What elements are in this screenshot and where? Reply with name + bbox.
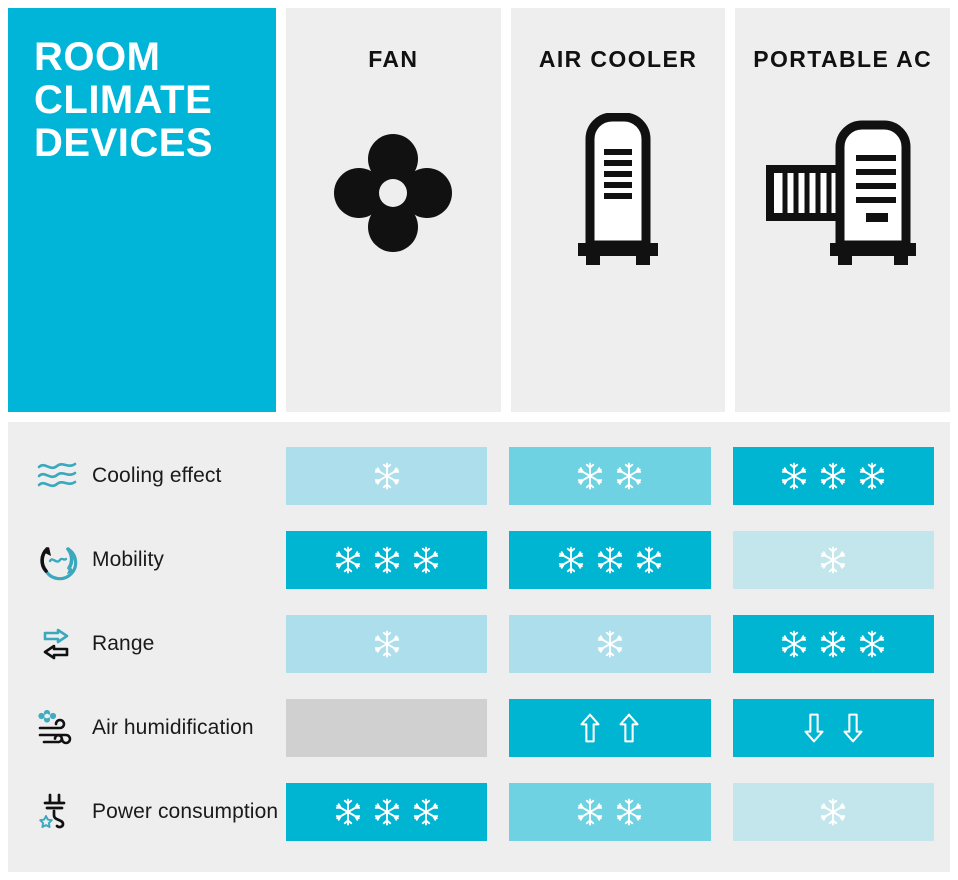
row-cells [286,615,942,673]
cell-air-humidification-fan[interactable] [286,699,487,757]
cell-air-humidification-air-cooler[interactable] [509,699,710,757]
header-row: ROOM CLIMATE DEVICES FAN [8,8,950,412]
power-plug-icon [34,789,80,835]
cell-cooling-effect-portable-ac[interactable] [733,447,934,505]
title-line-3: DEVICES [34,122,250,165]
cell-range-portable-ac[interactable] [733,615,934,673]
cell-power-consumption-air-cooler[interactable] [509,783,710,841]
row-label-power-consumption: Power consumption [8,789,286,835]
row-cells [286,531,942,589]
air-waves-icon [34,453,80,499]
device-title-portable-ac: PORTABLE AC [753,46,932,73]
device-card-portable-ac[interactable]: PORTABLE AC [735,8,950,412]
comparison-table: Cooling effect [8,422,950,872]
cell-power-consumption-fan[interactable] [286,783,487,841]
portable-air-conditioner-icon [735,73,950,412]
cell-air-humidification-portable-ac[interactable] [733,699,934,757]
row-cells [286,783,942,841]
row-label-air-humidification: Air humidification [8,705,286,751]
device-card-air-cooler[interactable]: AIR COOLER [511,8,726,412]
cell-mobility-fan[interactable] [286,531,487,589]
title-line-1: ROOM [34,36,250,79]
infographic-root: ROOM CLIMATE DEVICES FAN [0,0,958,880]
row-label-cooling-effect: Cooling effect [8,453,286,499]
table-row: Range [8,602,942,686]
device-card-fan[interactable]: FAN [286,8,501,412]
title-line-2: CLIMATE [34,79,250,122]
cell-power-consumption-portable-ac[interactable] [733,783,934,841]
device-title-fan: FAN [368,46,418,73]
cell-range-fan[interactable] [286,615,487,673]
table-row: Mobility [8,518,942,602]
rotation-circle-icon [34,537,80,583]
row-title: Cooling effect [92,464,221,488]
two-way-arrows-icon [34,621,80,667]
table-row: Cooling effect [8,434,942,518]
row-cells [286,699,942,757]
table-row: Air humidification [8,686,942,770]
cell-range-air-cooler[interactable] [509,615,710,673]
row-label-mobility: Mobility [8,537,286,583]
fan-blades-icon [286,73,501,412]
row-cells [286,447,942,505]
row-title: Air humidification [92,716,254,740]
cell-mobility-portable-ac[interactable] [733,531,934,589]
device-title-air-cooler: AIR COOLER [539,46,697,73]
row-title: Power consumption [92,800,278,824]
cell-cooling-effect-fan[interactable] [286,447,487,505]
cell-mobility-air-cooler[interactable] [509,531,710,589]
humidity-wind-icon [34,705,80,751]
row-title: Range [92,632,154,656]
row-label-range: Range [8,621,286,667]
row-title: Mobility [92,548,164,572]
cell-cooling-effect-air-cooler[interactable] [509,447,710,505]
table-row: Power consumption [8,770,942,854]
tower-air-cooler-icon [511,73,726,412]
title-card: ROOM CLIMATE DEVICES [8,8,276,412]
